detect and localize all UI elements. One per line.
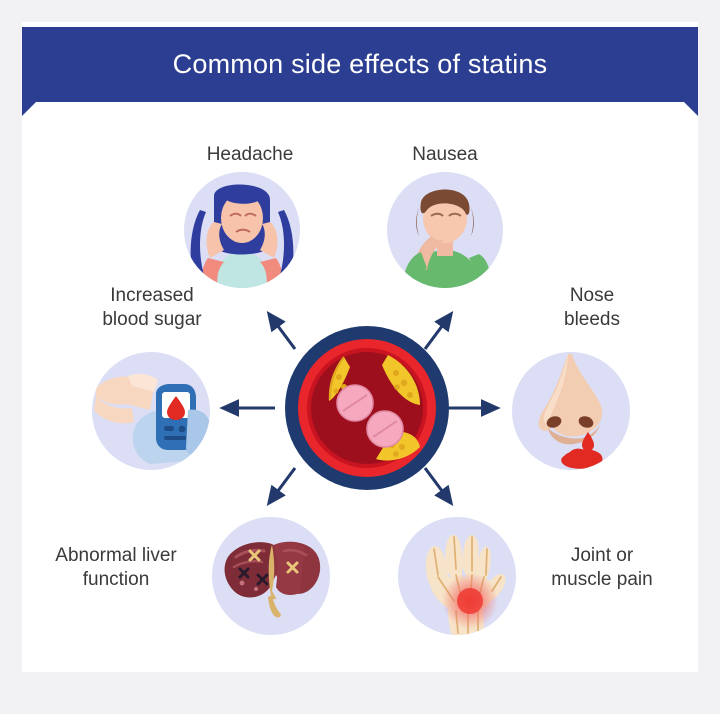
artery-cross-section-icon — [284, 325, 450, 491]
page-title: Common side effects of statins — [22, 27, 698, 102]
person-covering-mouth-icon — [387, 172, 503, 288]
pill-2 — [367, 411, 403, 447]
bubble-headache — [184, 172, 300, 288]
woman-holding-head-icon — [184, 172, 300, 288]
damaged-liver-icon — [212, 517, 330, 635]
title-banner: Common side effects of statins — [22, 27, 698, 112]
bubble-joint-or-muscle-pain — [398, 517, 516, 635]
label-nausea: Nausea — [365, 143, 525, 167]
bubble-nausea — [387, 172, 503, 288]
label-nose-bleeds: Nose bleeds — [512, 284, 672, 332]
bleeding-nose-icon — [512, 352, 630, 470]
bubble-increased-blood-sugar — [92, 352, 210, 470]
label-abnormal-liver-function: Abnormal liver function — [26, 544, 206, 592]
infographic-page: Common side effects of statins — [0, 0, 720, 714]
bubble-abnormal-liver-function — [212, 517, 330, 635]
painful-hand-joint-icon — [398, 517, 516, 635]
pill-1 — [337, 385, 373, 421]
label-joint-or-muscle-pain: Joint or muscle pain — [512, 544, 692, 592]
label-headache: Headache — [170, 143, 330, 167]
glucose-meter-icon — [92, 352, 210, 470]
bubble-nose-bleeds — [512, 352, 630, 470]
label-increased-blood-sugar: Increased blood sugar — [68, 284, 236, 332]
